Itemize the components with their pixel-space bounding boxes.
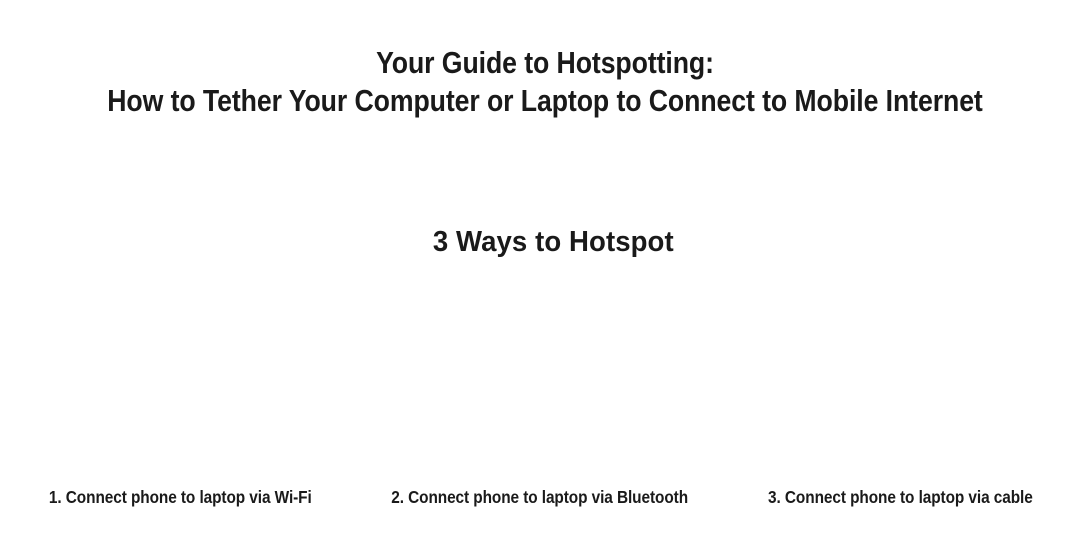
method-item-bluetooth: 2. Connect phone to laptop via Bluetooth <box>360 487 720 508</box>
illustration-slot-wifi <box>0 272 360 480</box>
method-caption-wifi: 1. Connect phone to laptop via Wi-Fi <box>49 487 312 507</box>
section-heading: 3 Ways to Hotspot <box>27 224 1053 260</box>
infographic-poster: Your Guide to Hotspotting: How to Tether… <box>0 0 1080 552</box>
illustration-slot-cable <box>720 272 1080 480</box>
page-title-line-2: How to Tether Your Computer or Laptop to… <box>85 82 1005 120</box>
method-caption-cable: 3. Connect phone to laptop via cable <box>768 487 1033 507</box>
method-item-cable: 3. Connect phone to laptop via cable <box>720 487 1080 508</box>
illustration-band <box>0 272 1080 480</box>
page-title: Your Guide to Hotspotting: How to Tether… <box>0 44 1080 120</box>
page-title-line-1: Your Guide to Hotspotting: <box>85 44 1005 82</box>
method-caption-row: 1. Connect phone to laptop via Wi-Fi 2. … <box>0 487 1080 508</box>
illustration-slot-bluetooth <box>360 272 720 480</box>
method-caption-bluetooth: 2. Connect phone to laptop via Bluetooth <box>392 487 689 507</box>
method-item-wifi: 1. Connect phone to laptop via Wi-Fi <box>0 487 360 508</box>
